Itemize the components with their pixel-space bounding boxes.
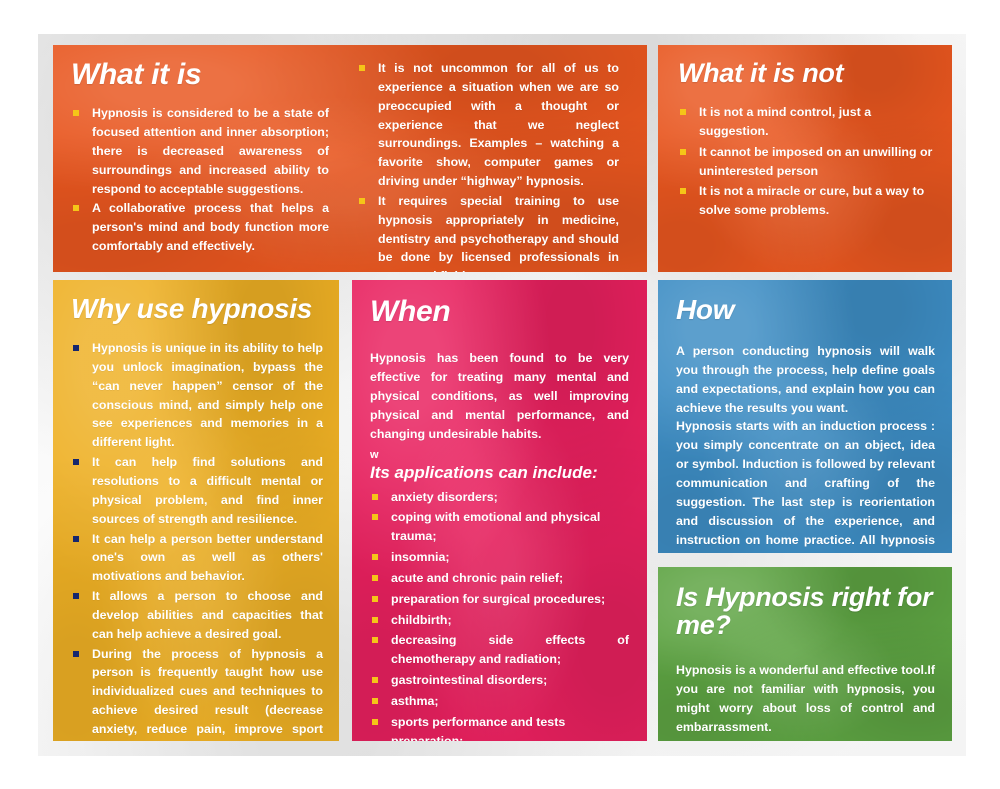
list-item: It requires special training to use hypn… [357,192,619,272]
stray-character: w [370,449,629,461]
list-item: decreasing side effects of chemotherapy … [370,631,629,669]
list-item: It is not a miracle or cure, but a way t… [678,182,936,220]
right-for-me-paragraph: Hypnosis is a wonderful and effective to… [676,661,935,736]
what-it-is-not-heading: What it is not [678,59,936,87]
why-use-hypnosis-list: Hypnosis is unique in its ability to hel… [71,339,323,741]
list-item: Hypnosis is considered to be a state of … [71,104,329,198]
how-heading: How [676,295,935,324]
list-item: It cannot be imposed on an unwilling or … [678,143,936,181]
list-item: It is not a mind control, just a suggest… [678,103,936,141]
panel-when: When Hypnosis has been found to be very … [352,280,647,741]
why-use-hypnosis-heading: Why use hypnosis [71,294,323,323]
what-it-is-column-right: It is not uncommon for all of us to expe… [345,45,647,272]
list-item: acute and chronic pain relief; [370,569,629,588]
list-item: childbirth; [370,611,629,630]
list-item: It is not uncommon for all of us to expe… [357,59,619,191]
list-item: gastrointestinal disorders; [370,671,629,690]
list-item: sports performance and tests preparation… [370,713,629,741]
list-item: During the process of hypnosis a person … [71,645,323,741]
list-item: coping with emotional and physical traum… [370,508,629,546]
when-subheading: Its applications can include: [370,463,629,483]
panel-what-it-is: What it is Hypnosis is considered to be … [53,45,647,272]
list-item: preparation for surgical procedures; [370,590,629,609]
list-item: A collaborative process that helps a per… [71,199,329,256]
what-it-is-heading: What it is [71,59,329,90]
panel-is-hypnosis-right-for-me: Is Hypnosis right for me? Hypnosis is a … [658,567,952,741]
list-item: insomnia; [370,548,629,567]
infographic-poster: What it is Hypnosis is considered to be … [0,0,1000,789]
when-intro-paragraph: Hypnosis has been found to be very effec… [370,349,629,443]
what-it-is-list-right: It is not uncommon for all of us to expe… [357,59,619,272]
what-it-is-column-left: What it is Hypnosis is considered to be … [53,45,345,272]
list-item: It can help a person better understand o… [71,530,323,587]
how-paragraph-2: Hypnosis starts with an induction proces… [676,417,935,553]
what-it-is-not-list: It is not a mind control, just a suggest… [678,103,936,220]
how-paragraph-1: A person conducting hypnosis will walk y… [676,342,935,417]
when-heading: When [370,296,629,327]
list-item: Hypnosis is unique in its ability to hel… [71,339,323,452]
list-item: It can help find solutions and resolutio… [71,453,323,528]
what-it-is-list-left: Hypnosis is considered to be a state of … [71,104,329,256]
panel-why-use-hypnosis: Why use hypnosis Hypnosis is unique in i… [53,280,339,741]
list-item: anxiety disorders; [370,488,629,507]
list-item: asthma; [370,692,629,711]
panel-what-it-is-not: What it is not It is not a mind control,… [658,45,952,272]
right-for-me-heading: Is Hypnosis right for me? [676,583,935,639]
panel-how: How A person conducting hypnosis will wa… [658,280,952,553]
list-item: It allows a person to choose and develop… [71,587,323,644]
when-applications-list: anxiety disorders; coping with emotional… [370,488,629,742]
